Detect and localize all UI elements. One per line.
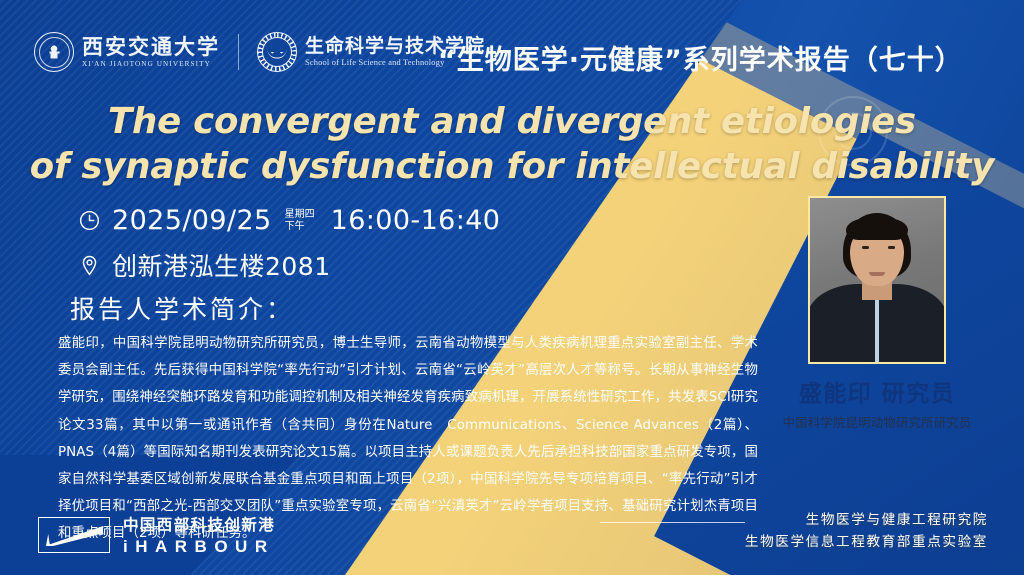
footer-organizations: 生物医学与健康工程研究院 生物医学信息工程教育部重点实验室: [745, 509, 988, 553]
university-seal-icon: [34, 32, 74, 72]
footer-org-line-2: 生物医学信息工程教育部重点实验室: [745, 531, 988, 553]
title-line-2: of synaptic dysfunction for intellectual…: [0, 145, 1024, 190]
series-title: “生物医学·元健康”系列学术报告（七十）: [438, 38, 963, 77]
seminar-poster: 西安交通大学 XI'AN JIAOTONG UNIVERSITY 生命科学与技术…: [0, 0, 1024, 575]
speaker-affiliation: 中国科学院昆明动物研究所研究员: [762, 413, 992, 431]
speaker-photo: [808, 196, 946, 364]
logo-divider: [238, 34, 239, 70]
iharbour-mark-icon: [38, 517, 110, 553]
event-location: 创新港泓生楼2081: [112, 247, 331, 283]
iharbour-logo: 中国西部科技创新港 iHARBOUR: [38, 513, 275, 557]
portrait-eye-right: [888, 246, 895, 249]
weekday-period: 星期四 下午: [285, 209, 315, 231]
event-date: 2025/09/25: [112, 205, 272, 236]
event-weekday: 星期四: [285, 209, 315, 220]
university-logo: 西安交通大学 XI'AN JIAOTONG UNIVERSITY: [34, 32, 220, 72]
clock-icon: [78, 209, 101, 232]
event-time: 16:00-16:40: [331, 205, 501, 236]
portrait-eye-left: [862, 246, 869, 249]
footer-divider: [600, 522, 745, 523]
university-name-en: XI'AN JIAOTONG UNIVERSITY: [82, 60, 220, 68]
datetime-row: 2025/09/25 星期四 下午 16:00-16:40: [78, 205, 500, 236]
footer-org-line-1: 生物医学与健康工程研究院: [745, 509, 988, 531]
event-period: 下午: [285, 221, 315, 232]
location-row: 创新港泓生楼2081: [78, 247, 500, 283]
page-title: The convergent and divergent etiologies …: [0, 100, 1024, 189]
event-meta: 2025/09/25 星期四 下午 16:00-16:40 创新港泓生楼2081: [78, 205, 500, 294]
speaker-name: 盛能印 研究员: [762, 374, 992, 408]
iharbour-name-en: iHARBOUR: [123, 537, 275, 557]
school-gear-seal-icon: [257, 32, 297, 72]
speaker-card: 盛能印 研究员 中国科学院昆明动物研究所研究员: [762, 196, 992, 431]
portrait-mouth: [869, 272, 885, 276]
portrait-fringe: [846, 218, 908, 240]
bio-heading: 报告人学术简介：: [70, 290, 294, 326]
iharbour-name-cn: 中国西部科技创新港: [123, 513, 275, 535]
map-pin-icon: [78, 254, 101, 277]
title-line-1: The convergent and divergent etiologies: [108, 101, 916, 142]
university-name-cn: 西安交通大学: [82, 36, 220, 58]
header-logos: 西安交通大学 XI'AN JIAOTONG UNIVERSITY 生命科学与技术…: [34, 32, 485, 72]
